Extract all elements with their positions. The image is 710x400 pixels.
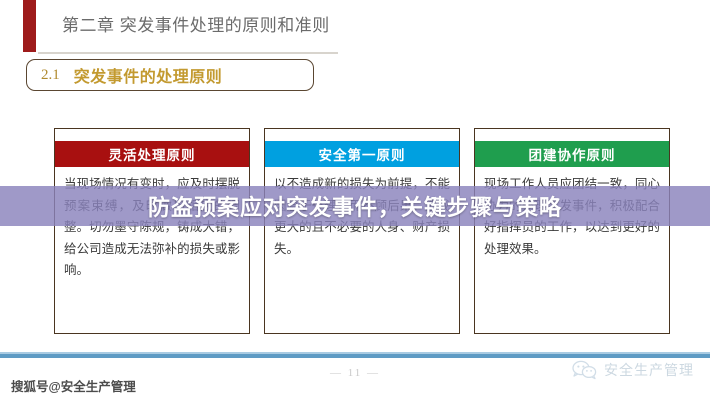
- card-header-label: 安全第一原则: [265, 141, 459, 167]
- card-top-strip: [475, 129, 669, 141]
- header-divider: [38, 52, 338, 54]
- footer-divider: [0, 354, 710, 358]
- card-top-strip: [55, 129, 249, 141]
- principle-card: 团建协作原则 现场工作人员应团结一致，同心协力的处理突发事件，积极配合好指挥员的…: [474, 128, 670, 334]
- wechat-watermark: 安全生产管理: [572, 360, 694, 380]
- principle-cards: 灵活处理原则 当现场情况有变时，应及时摆脱预案束缚，及时做出相应的调整。切勿墨守…: [0, 128, 710, 336]
- overlay-title: 防盗预案应对突发事件，关键步骤与策略: [0, 186, 710, 226]
- wechat-label: 安全生产管理: [604, 360, 694, 380]
- principle-card: 安全第一原则 以不造成新的损失为前提，不能因急于处理，而不顾后果，造成更大的且不…: [264, 128, 460, 334]
- card-header-label: 灵活处理原则: [55, 141, 249, 167]
- card-top-strip: [265, 129, 459, 141]
- chapter-title: 第二章 突发事件处理的原则和准则: [62, 11, 562, 36]
- slide-page: 第二章 突发事件处理的原则和准则 2.1 突发事件的处理原则 灵活处理原则 当现…: [0, 0, 710, 400]
- card-header-label: 团建协作原则: [475, 141, 669, 167]
- section-name: 突发事件的处理原则: [74, 63, 223, 87]
- principle-card: 灵活处理原则 当现场情况有变时，应及时摆脱预案束缚，及时做出相应的调整。切勿墨守…: [54, 128, 250, 334]
- section-number: 2.1: [41, 67, 60, 84]
- wechat-icon: [572, 360, 598, 380]
- header-accent-bar: [23, 0, 36, 52]
- section-pill: 2.1 突发事件的处理原则: [26, 59, 314, 91]
